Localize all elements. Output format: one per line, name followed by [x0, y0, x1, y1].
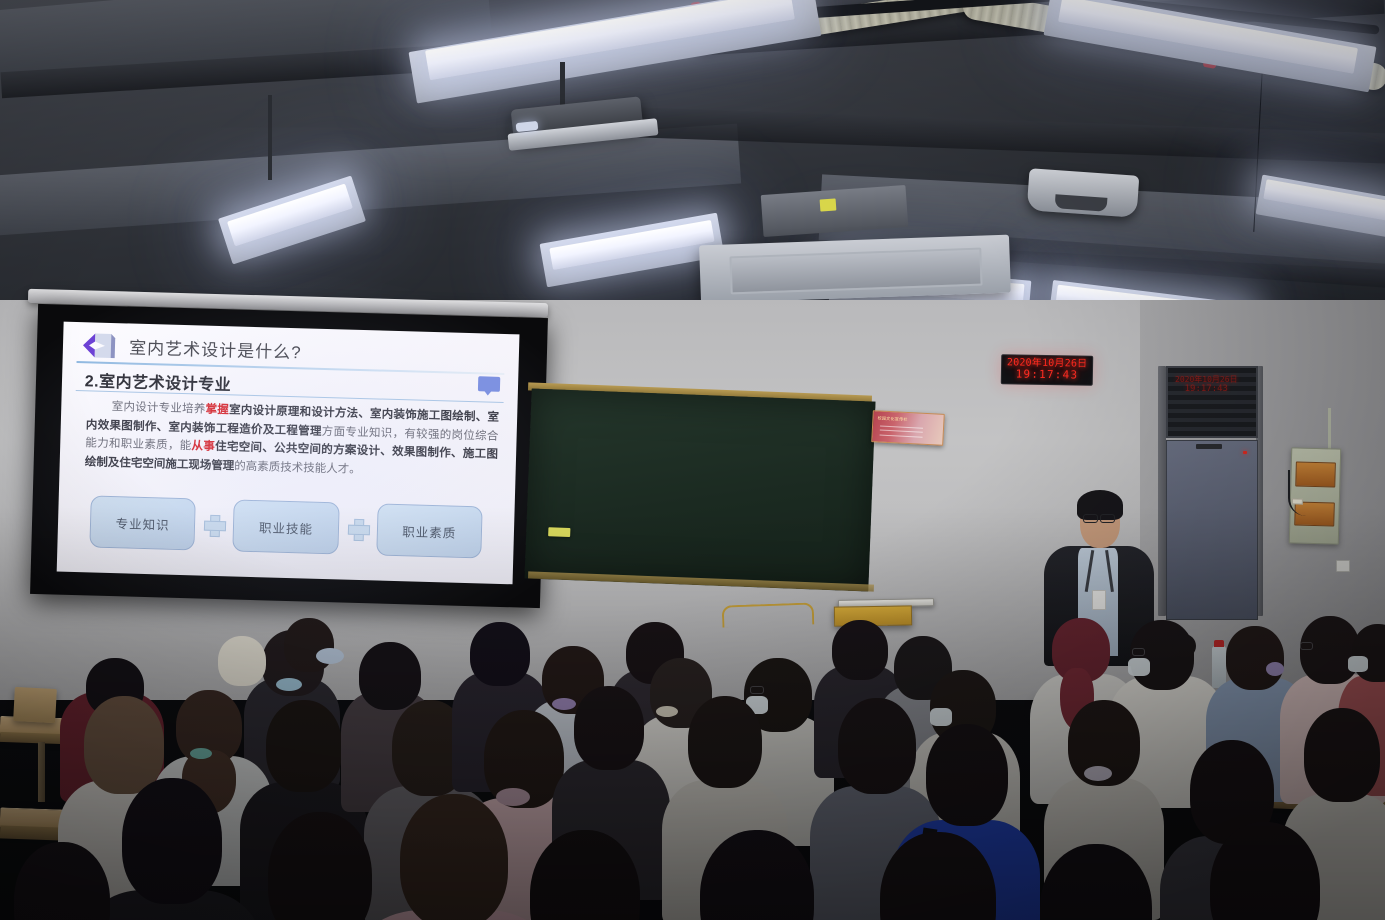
glasses-icon — [1083, 514, 1098, 523]
body-seg-1: 掌握 — [205, 404, 229, 417]
student-head — [926, 724, 1008, 826]
student-head — [1300, 616, 1360, 684]
student-head — [400, 794, 508, 920]
slide-body-text: 室内设计专业培养掌握室内设计原理和设计方法、室内装饰施工图绘制、室内效果图制作、… — [85, 397, 500, 483]
student-head — [359, 642, 421, 710]
projection-screen-frame: 室内艺术设计是什么? 2.室内艺术设计专业 室内设计专业培养掌握室内设计原理和设… — [30, 304, 548, 608]
diagram-box-3: 职业素质 — [376, 503, 483, 558]
student-head — [470, 622, 530, 686]
slide-diagram: 专业知识 职业技能 职业素质 — [89, 495, 482, 558]
ac-label — [820, 198, 837, 211]
student-head — [574, 686, 644, 770]
body-seg-6: 的高素质技术技能人才。 — [234, 460, 361, 476]
slide-title: 室内艺术设计是什么? — [129, 334, 302, 364]
reflection-time: 19:17:43 — [1175, 384, 1238, 394]
hair-tie — [276, 678, 302, 691]
student-head — [838, 698, 916, 794]
blackboard — [524, 388, 875, 591]
student-head — [284, 618, 334, 672]
face-mask — [1348, 656, 1368, 672]
classroom-photo-scene: 室内艺术设计是什么? 2.室内艺术设计专业 室内设计专业培养掌握室内设计原理和设… — [0, 0, 1385, 920]
ceiling-speaker-icon — [1027, 168, 1140, 218]
chevron-logo-icon — [81, 330, 120, 361]
desk-leg — [38, 742, 45, 802]
bottle-cap — [1214, 640, 1224, 647]
plus-icon — [204, 515, 225, 536]
wall-poster: 校园文化宣传栏 — [871, 410, 945, 446]
projector-mount — [268, 95, 272, 180]
hair-tie — [190, 748, 212, 759]
diagram-box-1: 专业知识 — [89, 495, 196, 550]
hair-tie — [496, 788, 530, 806]
led-clock-display: 2020年10月26日 19:17:43 — [1001, 354, 1094, 386]
chair — [13, 687, 57, 723]
ceiling-slab — [0, 124, 741, 237]
conduit — [1328, 408, 1331, 450]
face-mask — [1128, 658, 1150, 676]
door-handle[interactable] — [1196, 444, 1222, 449]
student-head — [122, 778, 222, 904]
hair-tie — [1266, 662, 1284, 676]
lectern-rail — [722, 602, 815, 627]
glasses-icon — [1300, 642, 1313, 650]
hair-tie — [1084, 766, 1112, 781]
face-mask — [930, 708, 952, 726]
door-transom: 2020年10月26日 19:17:43 — [1166, 366, 1258, 438]
student-head — [688, 696, 762, 788]
hair-tie — [552, 698, 576, 710]
hair-bun — [1172, 634, 1196, 658]
projector-mount — [560, 62, 565, 108]
transom-clock-reflection: 2020年10月26日 19:17:43 — [1175, 375, 1238, 395]
glasses-icon — [750, 686, 764, 694]
speech-bubble-icon — [478, 376, 500, 392]
led-clock-time: 19:17:43 — [1016, 369, 1079, 382]
reflection-date: 2020年10月26日 — [1175, 375, 1238, 384]
student-head — [1226, 626, 1284, 690]
plus-icon — [347, 519, 368, 540]
student-head — [218, 636, 266, 686]
door-indicator-light — [1243, 451, 1247, 454]
diagram-box-2: 职业技能 — [233, 499, 340, 554]
presentation-slide: 室内艺术设计是什么? 2.室内艺术设计专业 室内设计专业培养掌握室内设计原理和设… — [57, 322, 520, 585]
body-seg-0: 室内设计专业培养 — [112, 401, 206, 416]
wall-socket[interactable] — [1336, 560, 1350, 572]
slide-header: 室内艺术设计是什么? — [81, 330, 302, 366]
student-head — [1304, 708, 1380, 802]
student-head — [84, 696, 164, 794]
student-head — [832, 620, 888, 680]
classroom-door[interactable] — [1166, 440, 1258, 620]
id-badge — [1092, 590, 1106, 610]
sticky-note — [548, 527, 570, 537]
water-bottle — [1212, 646, 1226, 688]
hair-tie — [656, 706, 678, 717]
hair-bow — [316, 648, 344, 664]
glasses-icon — [1132, 648, 1145, 656]
ceiling — [0, 0, 1385, 330]
glasses-icon — [1100, 514, 1115, 523]
body-seg-4: 从事 — [191, 441, 215, 454]
student-head — [266, 700, 342, 792]
poster-title: 校园文化宣传栏 — [878, 415, 908, 423]
